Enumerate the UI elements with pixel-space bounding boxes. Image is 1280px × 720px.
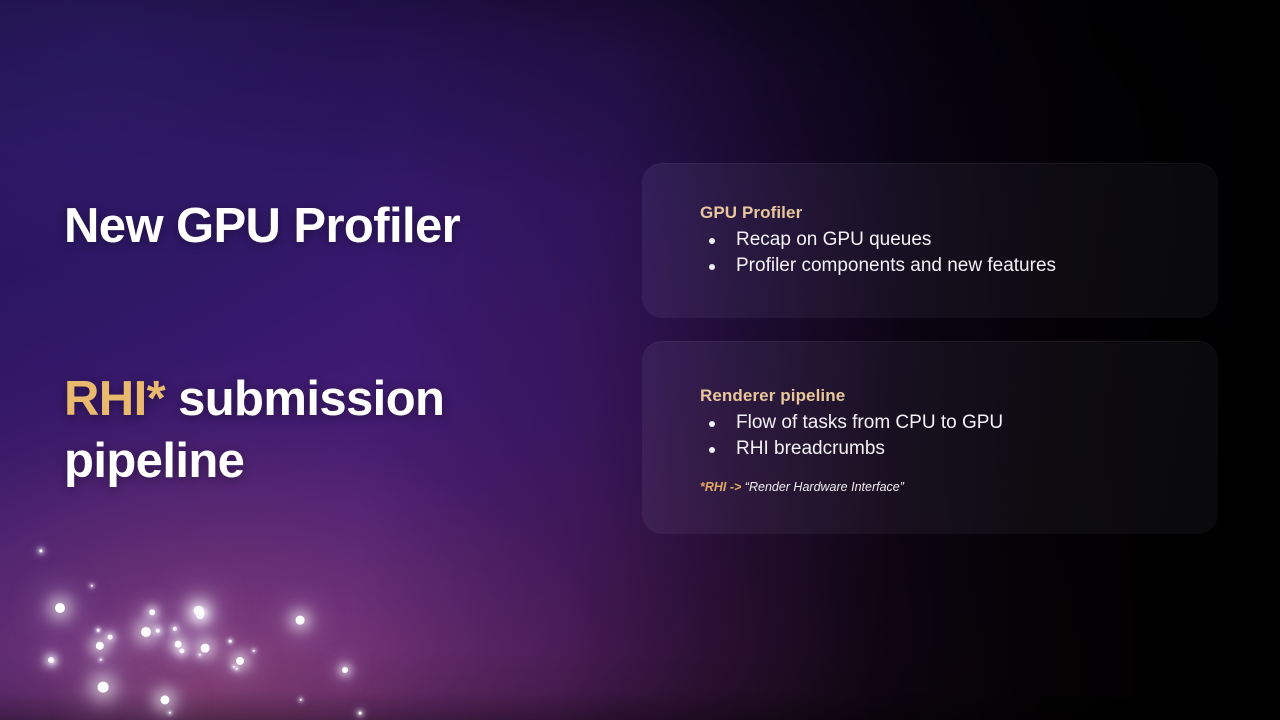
star-icon [39,549,42,552]
star-icon [48,657,54,663]
star-icon [236,657,244,665]
star-icon [96,642,104,650]
star-icon [149,609,155,615]
card-gpu-profiler-content: GPU Profiler Recap on GPU queues Profile… [642,163,1218,279]
secondary-title: RHI* submission pipeline [64,369,584,492]
card-gpu-profiler-bullets: Recap on GPU queues Profiler components … [700,227,1188,279]
footnote-accent: *RHI -> [700,480,741,494]
star-icon [100,659,102,661]
list-item: Flow of tasks from CPU to GPU [700,410,1188,436]
headings-column: New GPU Profiler RHI* submission pipelin… [64,196,584,492]
star-icon [199,654,201,656]
page-title: New GPU Profiler [64,196,584,257]
star-icon [160,695,169,704]
secondary-title-accent: RHI* [64,372,165,426]
list-item-label: Profiler components and new features [736,255,1056,276]
star-icon [141,627,151,637]
star-icon [55,603,65,613]
list-item-label: RHI breadcrumbs [736,438,885,459]
star-icon [233,666,235,668]
bullet-dot-icon [709,264,715,270]
bullet-dot-icon [709,421,715,427]
star-icon [194,606,204,616]
list-item-label: Flow of tasks from CPU to GPU [736,412,1003,433]
star-icon [195,609,198,612]
star-icon [236,668,238,670]
star-icon [175,641,182,648]
star-icon [296,616,305,625]
star-icon [200,611,204,615]
card-renderer-pipeline-bullets: Flow of tasks from CPU to GPU RHI breadc… [700,410,1188,462]
star-icon [342,667,348,673]
star-icon [201,644,210,653]
star-icon [300,699,302,701]
star-icon [91,585,93,587]
bullet-dot-icon [709,238,715,244]
footnote: *RHI -> “Render Hardware Interface” [700,480,1188,494]
list-item: Recap on GPU queues [700,227,1188,253]
footnote-quote: “Render Hardware Interface” [741,480,904,494]
card-renderer-pipeline-heading: Renderer pipeline [700,386,1188,406]
star-icon [173,627,177,631]
star-icon [359,712,362,715]
list-item: RHI breadcrumbs [700,436,1188,462]
star-icon [196,611,204,619]
card-gpu-profiler-heading: GPU Profiler [700,203,1188,223]
star-icon [98,682,109,693]
slide-canvas: New GPU Profiler RHI* submission pipelin… [0,0,1280,720]
card-renderer-pipeline: Renderer pipeline Flow of tasks from CPU… [642,341,1218,534]
star-icon [97,629,100,632]
list-item-label: Recap on GPU queues [736,229,931,250]
card-renderer-pipeline-content: Renderer pipeline Flow of tasks from CPU… [642,341,1218,494]
star-icon [229,640,232,643]
bullet-dot-icon [709,447,715,453]
star-icon [51,660,54,663]
star-icon [169,712,171,714]
star-icon [179,648,184,653]
star-icon [108,635,113,640]
star-icon [156,629,160,633]
list-item: Profiler components and new features [700,253,1188,279]
card-gpu-profiler: GPU Profiler Recap on GPU queues Profile… [642,163,1218,318]
star-icon [253,650,255,652]
